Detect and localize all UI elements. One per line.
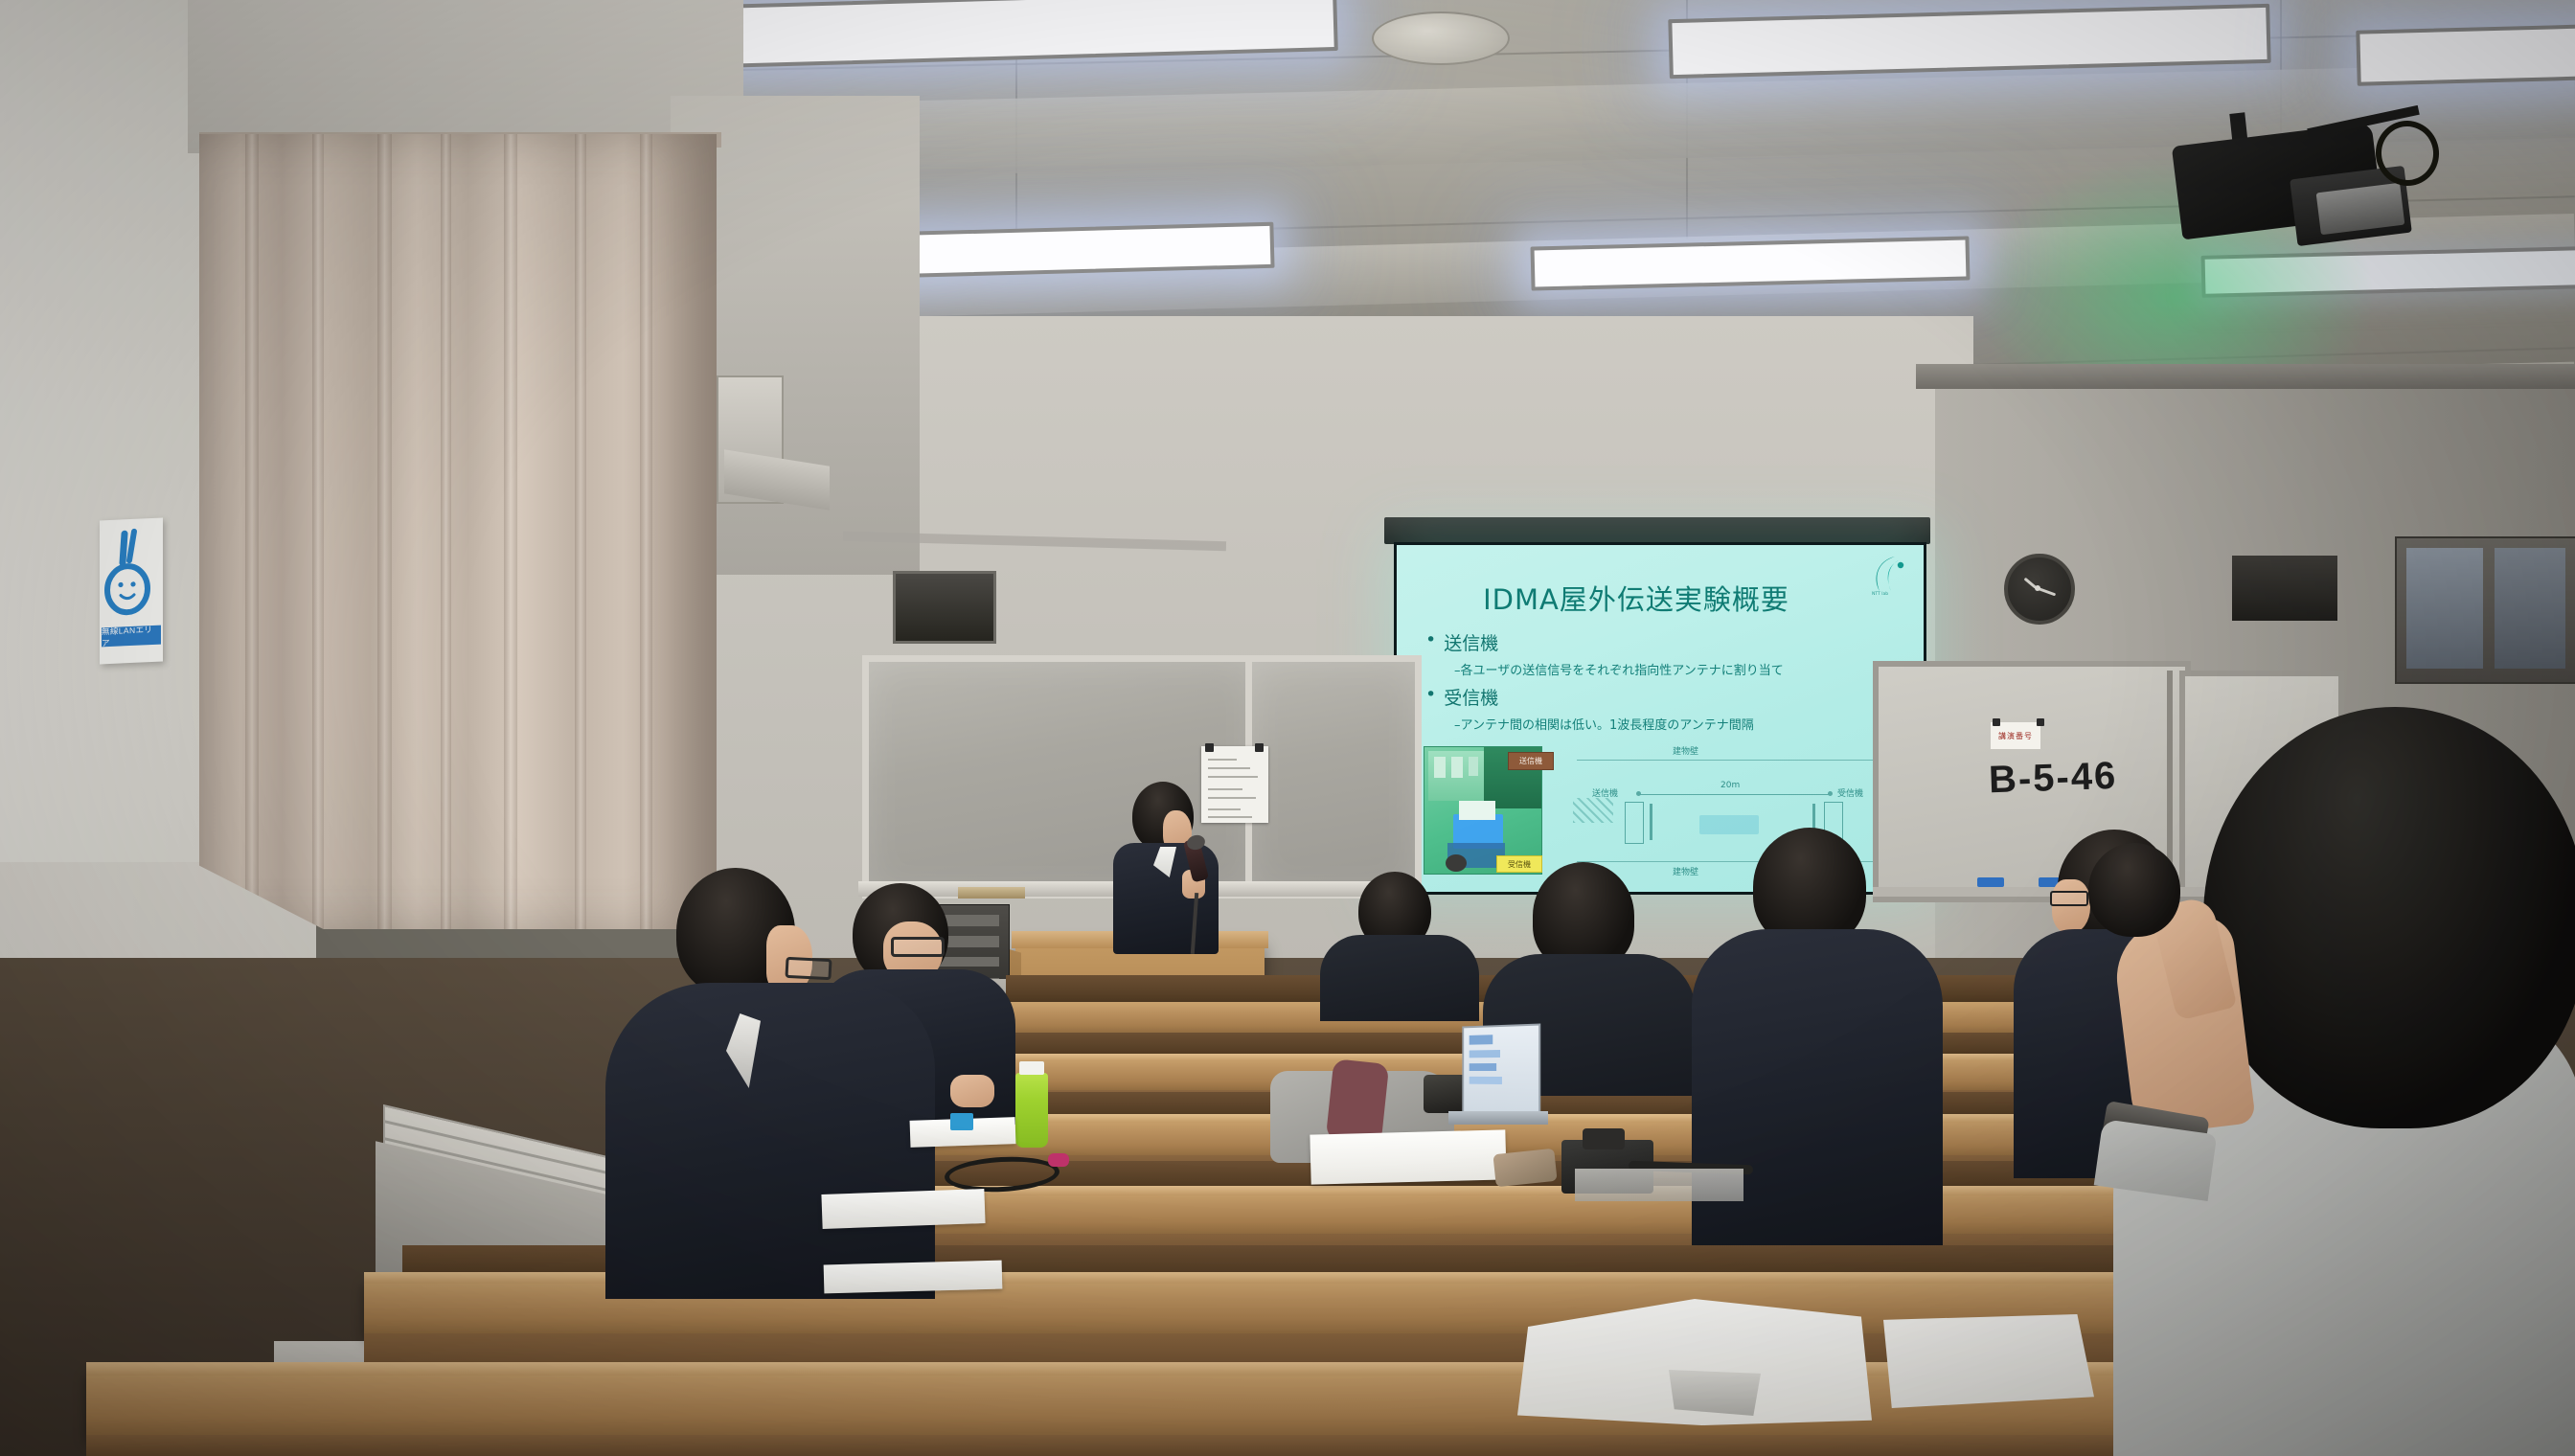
window-pane (2406, 548, 2483, 669)
slide-title: IDMA屋外伝送実験概要 (1397, 578, 1876, 618)
magnet-icon (1205, 743, 1214, 752)
chalk-tray-eraser (958, 887, 1025, 899)
slide-bullet-2: 受信機 (1444, 684, 1498, 710)
white-papers (824, 1261, 1003, 1294)
diagram-label-top-wall: 建物壁 (1673, 744, 1698, 757)
whiteboard-marker (1977, 877, 2004, 887)
photo-label-transmitter: 送信機 (1508, 752, 1554, 770)
magnet-icon (2037, 718, 2044, 726)
laptop-screen (1462, 1023, 1540, 1118)
blue-stapler (950, 1113, 973, 1130)
attendee-front-left-body (605, 983, 935, 1299)
presentation-number-label-text: 講演番号 (1998, 731, 2033, 741)
left-wall-upper (188, 0, 743, 153)
bullet-marker: • (1425, 684, 1436, 705)
lecture-hall-photo: 無線LANエリア NTT lab IDMA屋外伝送実験概要 • 送信機 –各ユー… (0, 0, 2575, 1456)
attendee-glasses-hand (950, 1075, 994, 1107)
photo-label-receiver: 受信機 (1496, 855, 1542, 873)
session-code-text: B-5-46 (1988, 755, 2123, 803)
presentation-number-label: 講演番号 (1991, 722, 2040, 749)
green-tea-bottle (1015, 1073, 1048, 1148)
pink-cable-tag (1048, 1153, 1069, 1167)
wall-speaker (893, 571, 996, 644)
glasses-icon (891, 937, 945, 957)
diagram-label-distance: 20m (1720, 781, 1740, 790)
book-right-page (1883, 1314, 2094, 1408)
desk-row-0-front (86, 1435, 2290, 1456)
laptop-base (1448, 1111, 1548, 1125)
right-wall-trim (1916, 364, 2575, 389)
window-curtain[interactable] (199, 134, 717, 929)
bottle-cap (1019, 1061, 1044, 1075)
wifi-sign-text: 無線LANエリア (102, 624, 161, 649)
smoke-detector (1372, 11, 1510, 65)
book-spine-shadow (1669, 1370, 1761, 1416)
analog-wall-clock (2004, 554, 2075, 625)
glasses-icon (785, 957, 832, 980)
white-papers (821, 1189, 985, 1229)
magnet-icon (1255, 743, 1264, 752)
cable-mat (1575, 1169, 1743, 1201)
camera-rig-top (1583, 1128, 1625, 1149)
wifi-mascot-icon (100, 518, 163, 628)
bullet-marker: • (1425, 629, 1436, 650)
slide-bullet-1: 送信機 (1444, 629, 1498, 655)
slide-bullet-1-sub: –各ユーザの送信信号をそれぞれ指向性アンテナに割り当て (1454, 660, 1904, 678)
magnet-icon (1993, 718, 2000, 726)
camera-body (1424, 1075, 1468, 1113)
blackboard-right (1245, 655, 1422, 899)
attendee-foreground-head (2203, 707, 2575, 1128)
session-notice-paper (1201, 746, 1268, 823)
clock-center (2035, 585, 2040, 591)
window-pane (2495, 548, 2565, 669)
ceiling-light-panel (2356, 23, 2575, 86)
slide-bullet-2-sub: –アンテナ間の相関は低い。1波長程度のアンテナ間隔 (1454, 715, 1904, 733)
wifi-area-sign: 無線LANエリア (100, 518, 163, 665)
camera-strap (1493, 1149, 1557, 1188)
white-papers (1310, 1129, 1506, 1184)
wall-speaker-right (2232, 556, 2337, 621)
wifi-sign-band: 無線LANエリア (102, 626, 161, 648)
attendee-right-face (2052, 879, 2090, 933)
diagram-label-bottom-wall: 建物壁 (1673, 865, 1698, 877)
attendee-center-left-body (1320, 935, 1479, 1021)
maroon-jacket (1326, 1058, 1389, 1145)
glasses-icon (2050, 891, 2088, 906)
projection-screen-housing (1384, 517, 1930, 544)
attendee-rear-head (2088, 843, 2180, 937)
diagram-label-receiver: 受信機 (1837, 786, 1863, 799)
